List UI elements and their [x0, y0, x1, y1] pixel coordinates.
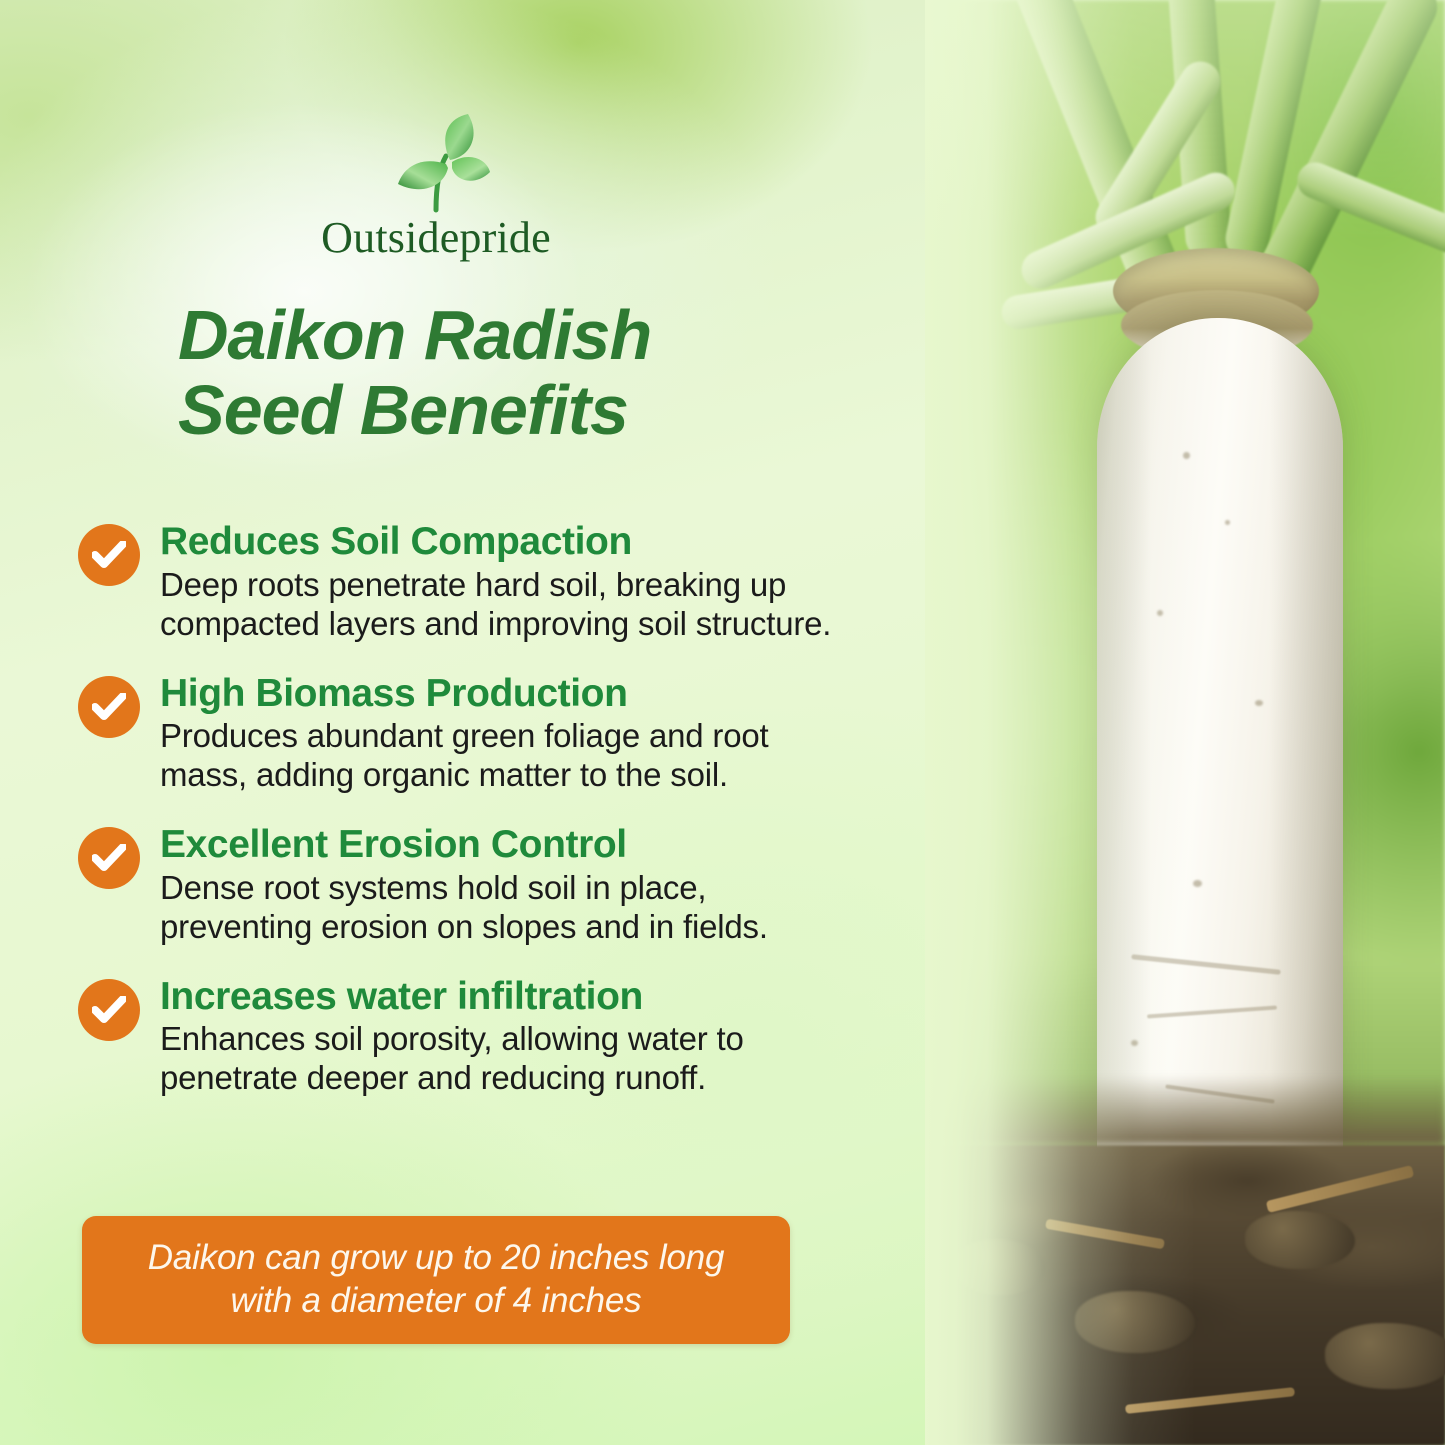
benefit-heading: Reduces Soil Compaction [160, 520, 938, 564]
benefit-heading: Increases water infiltration [160, 975, 938, 1019]
check-circle-icon [78, 979, 140, 1041]
callout-line-1: Daikon can grow up to 20 inches long [148, 1238, 725, 1277]
benefit-item: Excellent Erosion Control Dense root sys… [78, 823, 938, 947]
page-title: Daikon Radish Seed Benefits [178, 298, 878, 448]
benefit-item: Increases water infiltration Enhances so… [78, 975, 938, 1099]
infographic-poster: Outsidepride Daikon Radish Seed Benefits… [0, 0, 1445, 1445]
benefit-heading: High Biomass Production [160, 672, 938, 716]
benefit-item: Reduces Soil Compaction Deep roots penet… [78, 520, 938, 644]
callout-line-2: with a diameter of 4 inches [231, 1281, 642, 1320]
brand-name: Outsidepride [286, 216, 586, 260]
photo-top-fade [925, 0, 1445, 240]
check-circle-icon [78, 827, 140, 889]
benefit-body: Enhances soil porosity, allowing water t… [160, 1020, 860, 1098]
content-column: Outsidepride Daikon Radish Seed Benefits… [0, 0, 950, 1445]
fact-callout-banner: Daikon can grow up to 20 inches long wit… [82, 1216, 790, 1344]
check-circle-icon [78, 524, 140, 586]
leaf-sprout-icon [376, 112, 496, 224]
title-line-2: Seed Benefits [178, 373, 878, 448]
benefit-heading: Excellent Erosion Control [160, 823, 938, 867]
benefit-body: Dense root systems hold soil in place, p… [160, 869, 860, 947]
benefit-body: Produces abundant green foliage and root… [160, 717, 860, 795]
title-line-1: Daikon Radish [178, 298, 878, 373]
brand-logo[interactable]: Outsidepride [286, 112, 586, 260]
benefits-list: Reduces Soil Compaction Deep roots penet… [78, 520, 938, 1126]
callout-text: Daikon can grow up to 20 inches long wit… [148, 1237, 725, 1322]
benefit-body: Deep roots penetrate hard soil, breaking… [160, 566, 860, 644]
benefit-item: High Biomass Production Produces abundan… [78, 672, 938, 796]
check-circle-icon [78, 676, 140, 738]
daikon-radish-photo [925, 0, 1445, 1445]
